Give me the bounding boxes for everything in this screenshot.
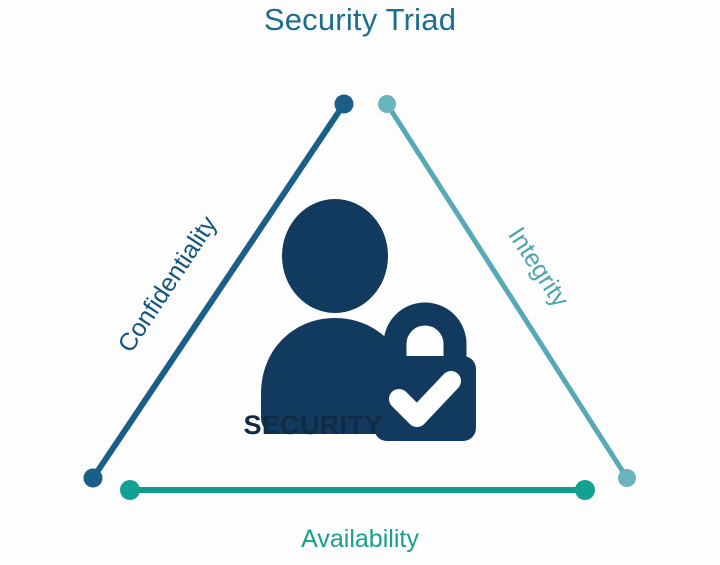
confidentiality-node-bottom xyxy=(84,469,103,488)
edge-label-availability: Availability xyxy=(0,525,720,554)
person-head-icon xyxy=(282,199,388,313)
integrity-node-top xyxy=(378,95,396,113)
edge-availability xyxy=(120,480,595,500)
security-center-icon xyxy=(243,196,493,441)
availability-node-left xyxy=(120,480,140,500)
confidentiality-node-top xyxy=(335,95,354,114)
integrity-node-bottom xyxy=(618,469,636,487)
security-triad-diagram: Security Triad SECU xyxy=(0,0,720,565)
availability-node-right xyxy=(575,480,595,500)
security-caption: SECURITY xyxy=(243,410,383,441)
